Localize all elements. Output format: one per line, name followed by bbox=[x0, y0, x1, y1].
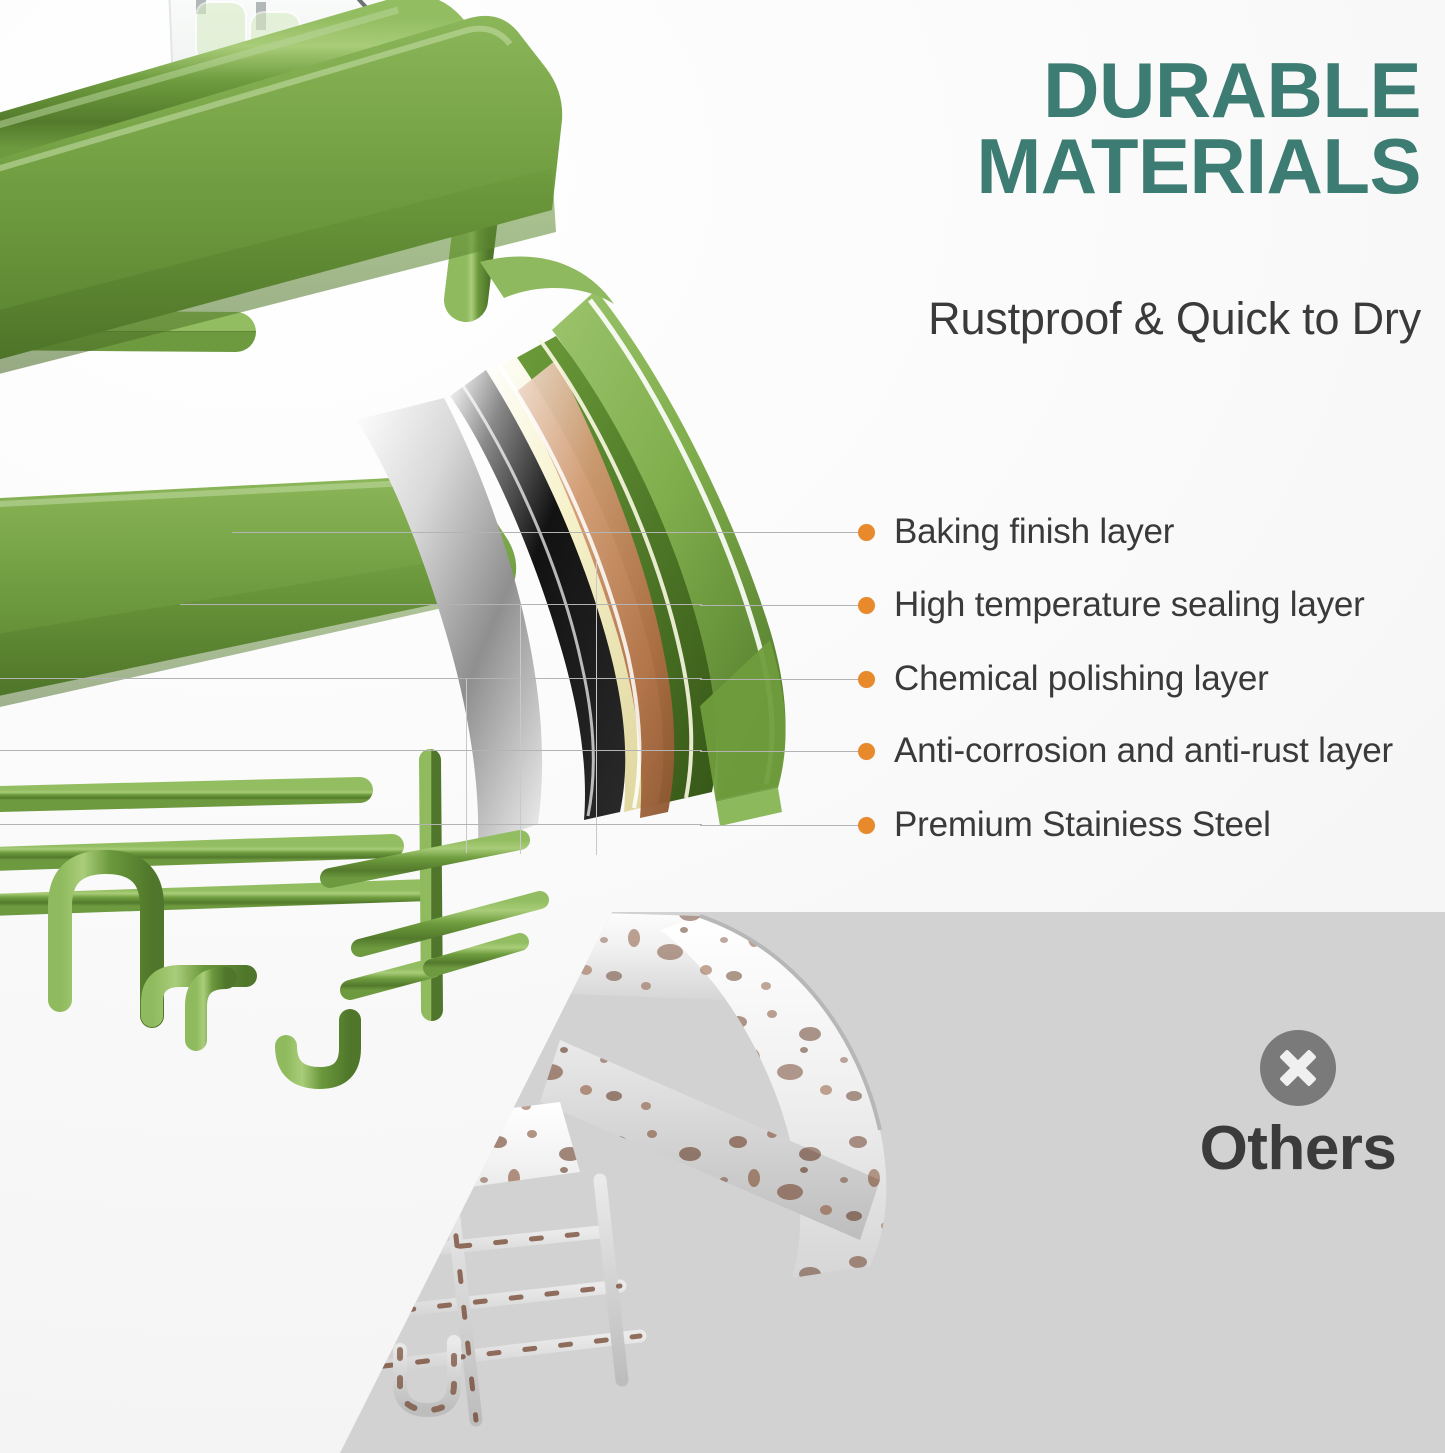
callout-label: Baking finish layer bbox=[894, 512, 1174, 552]
callout-label: Premium Stainiess Steel bbox=[894, 805, 1271, 845]
title-line-1: DURABLE bbox=[701, 52, 1421, 128]
callout-dot-icon bbox=[858, 743, 875, 760]
callout-dot-icon bbox=[858, 817, 875, 834]
callout-dot-icon bbox=[858, 524, 875, 541]
callout-line bbox=[700, 532, 860, 533]
page-subtitle: Rustproof & Quick to Dry bbox=[661, 293, 1421, 345]
callout-leader-line bbox=[232, 532, 702, 533]
leader-hairline bbox=[466, 678, 467, 853]
title-line-2: MATERIALS bbox=[701, 128, 1421, 204]
callout-line bbox=[700, 751, 860, 752]
leader-hairline bbox=[520, 604, 521, 854]
callout-line bbox=[700, 605, 860, 606]
callout-dot-icon bbox=[858, 597, 875, 614]
x-circle-icon bbox=[1260, 1030, 1336, 1106]
callout-label: Chemical polishing layer bbox=[894, 659, 1269, 699]
others-badge: Others bbox=[1158, 1030, 1438, 1180]
callout-leader-line bbox=[0, 824, 702, 825]
callout-item: Premium Stainiess Steel bbox=[700, 803, 1271, 847]
callout-item: Baking finish layer bbox=[700, 510, 1174, 554]
callout-label: Anti-corrosion and anti-rust layer bbox=[894, 731, 1393, 771]
callout-leader-line bbox=[180, 604, 702, 605]
others-label: Others bbox=[1158, 1118, 1438, 1180]
product-infographic: DURABLE MATERIALS Rustproof & Quick to D… bbox=[0, 0, 1445, 1453]
callout-leader-line bbox=[0, 678, 702, 679]
callout-line bbox=[700, 825, 860, 826]
callout-line bbox=[700, 679, 860, 680]
callout-item: Chemical polishing layer bbox=[700, 657, 1269, 701]
page-title: DURABLE MATERIALS bbox=[701, 52, 1421, 205]
callout-label: High temperature sealing layer bbox=[894, 585, 1365, 625]
rack-wire-frame bbox=[0, 760, 540, 1078]
callout-item: High temperature sealing layer bbox=[700, 583, 1365, 627]
callout-dot-icon bbox=[858, 671, 875, 688]
callout-leader-line bbox=[0, 750, 702, 751]
callout-item: Anti-corrosion and anti-rust layer bbox=[700, 729, 1393, 773]
